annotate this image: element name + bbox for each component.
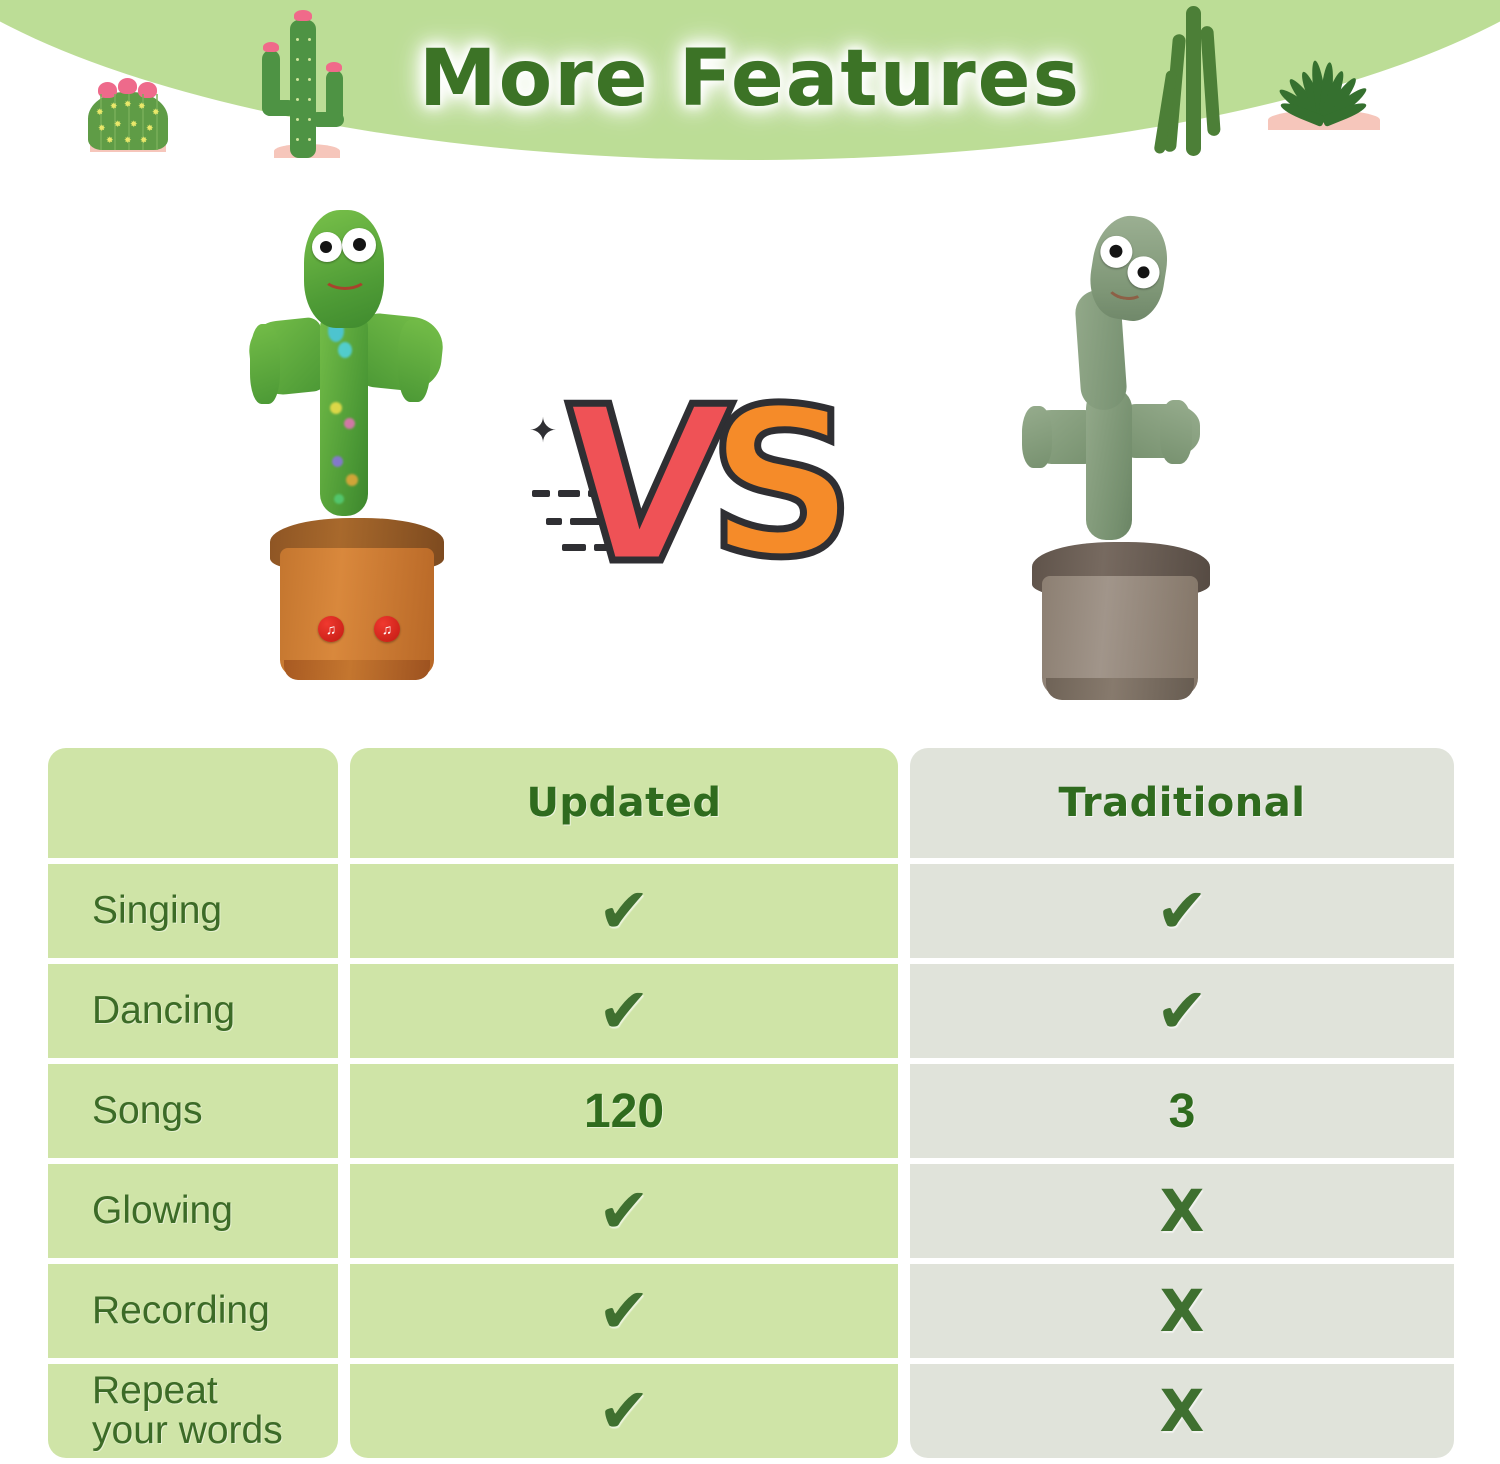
table-cell: X (910, 1364, 1454, 1458)
table-cell: 120 (350, 1064, 898, 1158)
left-arm-tip (250, 324, 280, 404)
check-icon: ✔ (598, 1280, 650, 1342)
label-column-header (48, 748, 338, 858)
traditional-product-image (1000, 198, 1250, 738)
right-eye (342, 228, 376, 262)
check-icon: ✔ (1156, 880, 1208, 942)
traditional-column-header-text: Traditional (1059, 780, 1306, 826)
pot-base (284, 660, 430, 680)
table-cell: ✔ (350, 864, 898, 958)
table-cell: X (910, 1264, 1454, 1358)
right-arm-tip (1160, 400, 1192, 464)
table-row: Glowing (48, 1164, 338, 1258)
feature-label: Glowing (92, 1191, 233, 1231)
table-cell: X (910, 1164, 1454, 1258)
cross-icon: X (1160, 1182, 1205, 1240)
music-note-button-left[interactable]: ♫ (318, 616, 344, 642)
left-arm-tip (1022, 406, 1052, 468)
feature-label: Singing (92, 891, 222, 931)
feature-label: Recording (92, 1291, 270, 1331)
songs-count-value: 3 (1169, 1084, 1196, 1139)
check-icon: ✔ (598, 880, 650, 942)
smile (322, 262, 368, 290)
cactus-head (1084, 211, 1173, 325)
pot-body (280, 548, 434, 676)
feature-label: Repeat your words (92, 1371, 283, 1451)
updated-column: Updated ✔ ✔ 120 ✔ ✔ ✔ (350, 748, 898, 1464)
check-icon: ✔ (598, 980, 650, 1042)
left-eye (312, 232, 342, 262)
pot-base (1046, 678, 1194, 700)
table-cell: ✔ (910, 864, 1454, 958)
songs-count-value: 120 (584, 1084, 664, 1139)
feature-label-column: Singing Dancing Songs Glowing Recording … (48, 748, 338, 1464)
cross-icon: X (1160, 1382, 1205, 1440)
table-cell: 3 (910, 1064, 1454, 1158)
updated-column-header-text: Updated (526, 780, 721, 826)
table-cell: ✔ (910, 964, 1454, 1058)
updated-product-image: ♫ ♫ (232, 196, 482, 736)
cactus-stem (320, 306, 368, 516)
check-icon: ✔ (1156, 980, 1208, 1042)
page-title: More Features (0, 34, 1500, 124)
table-row: Recording (48, 1264, 338, 1358)
versus-badge: ✦ V S (512, 372, 922, 642)
table-row: Repeat your words (48, 1364, 338, 1458)
cactus-head (304, 210, 384, 328)
table-row: Songs (48, 1064, 338, 1158)
header-banner: ✸ ✸ ✸ ✸ ✸ ✸ ✸ ✸ ✸ ✸ ✸ ✸ (0, 0, 1500, 175)
right-arm-tip (398, 320, 430, 402)
sparkle-icon: ✦ (526, 414, 560, 448)
cactus-stem (1086, 388, 1132, 540)
table-row: Singing (48, 864, 338, 958)
table-cell: ✔ (350, 1264, 898, 1358)
table-cell: ✔ (350, 1164, 898, 1258)
check-icon: ✔ (598, 1380, 650, 1442)
table-cell: ✔ (350, 1364, 898, 1458)
traditional-column-header: Traditional (910, 748, 1454, 858)
cross-icon: X (1160, 1282, 1205, 1340)
check-icon: ✔ (598, 1180, 650, 1242)
table-cell: ✔ (350, 964, 898, 1058)
updated-column-header: Updated (350, 748, 898, 858)
feature-label: Dancing (92, 991, 235, 1031)
feature-label: Songs (92, 1091, 203, 1131)
traditional-column: Traditional ✔ ✔ 3 X X X (910, 748, 1454, 1464)
vs-letter-s: S (708, 382, 856, 587)
music-note-button-right[interactable]: ♫ (374, 616, 400, 642)
comparison-table: Singing Dancing Songs Glowing Recording … (48, 748, 1454, 1455)
table-row: Dancing (48, 964, 338, 1058)
